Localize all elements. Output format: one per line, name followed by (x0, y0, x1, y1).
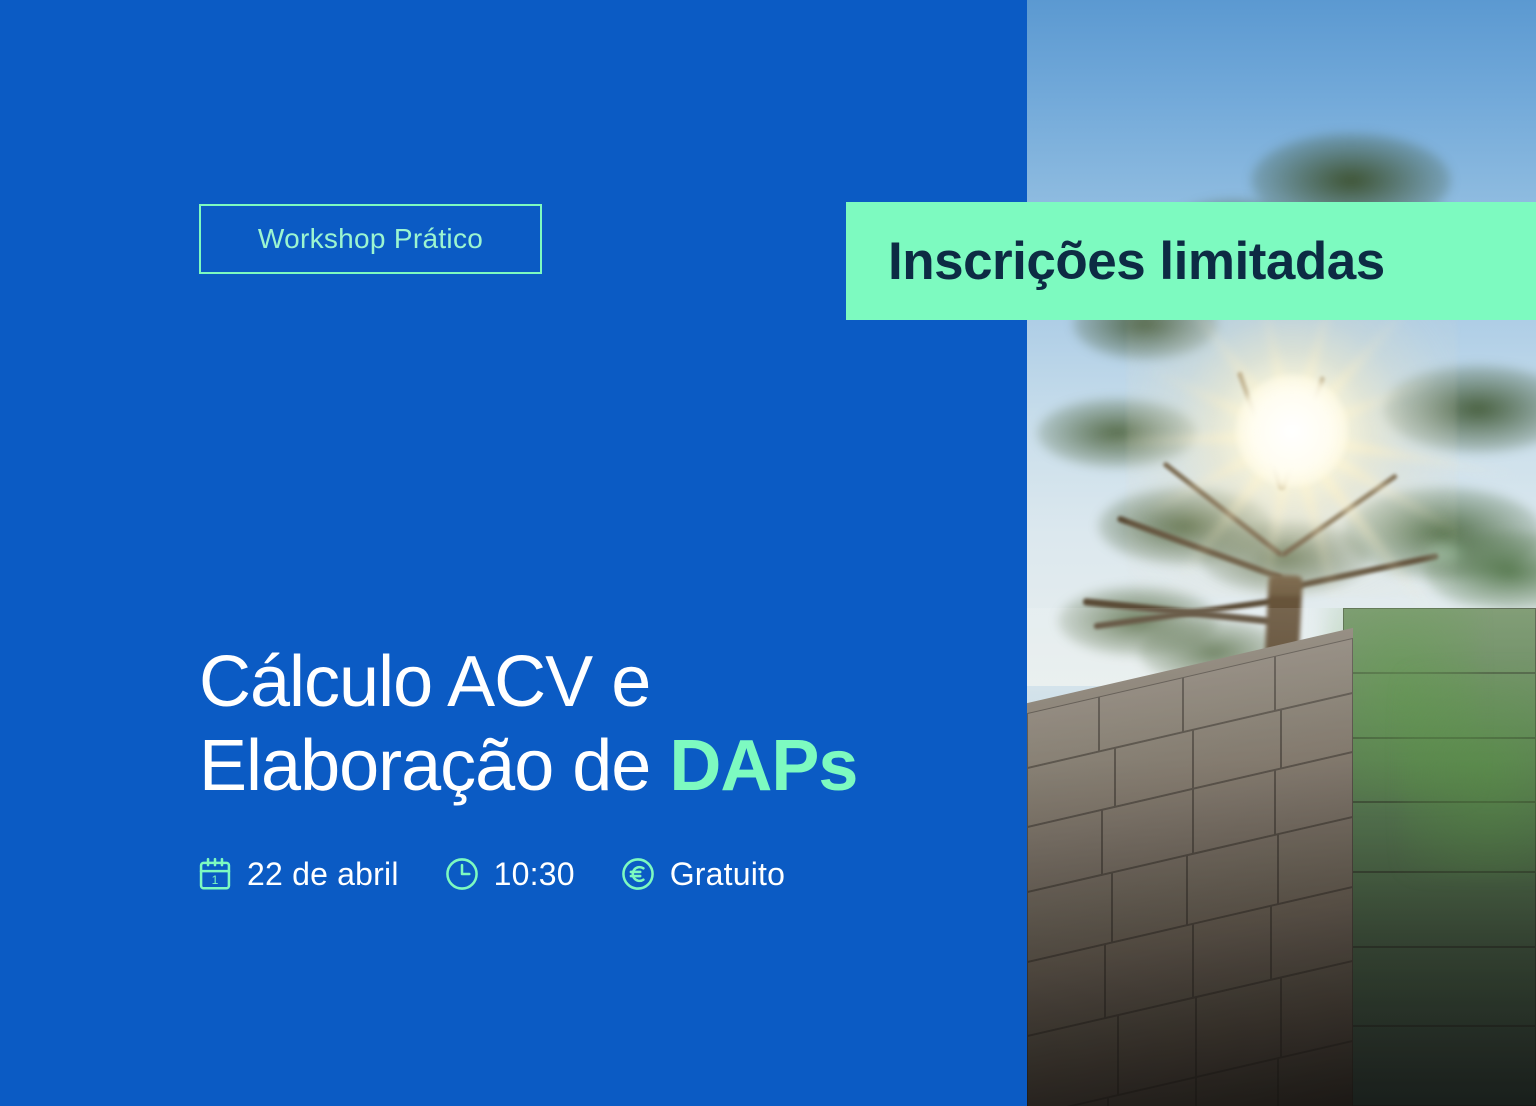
calendar-day-number: 1 (212, 873, 219, 887)
wall-shading (1027, 608, 1536, 1106)
badge-label: Workshop Prático (258, 223, 483, 255)
meta-label-time: 10:30 (494, 856, 575, 893)
euro-circle-icon (619, 855, 657, 893)
meta-label-price: Gratuito (670, 856, 785, 893)
page-title: Cálculo ACV e Elaboração de DAPs (199, 641, 989, 808)
meta-label-date: 22 de abril (247, 856, 399, 893)
limited-seats-banner: Inscrições limitadas (846, 202, 1536, 320)
headline-line-1: Cálculo ACV e (199, 641, 989, 725)
meta-item-price: Gratuito (619, 855, 785, 893)
meta-item-time: 10:30 (443, 855, 575, 893)
lens-flare (1424, 542, 1464, 564)
event-meta-row: 1 22 de abril 10:30 Gratuito (196, 855, 785, 893)
banner-label: Inscrições limitadas (888, 231, 1385, 292)
headline-line-2: Elaboração de DAPs (199, 725, 989, 809)
workshop-badge: Workshop Prático (199, 204, 542, 274)
sun-core (1236, 375, 1348, 487)
calendar-icon: 1 (196, 855, 234, 893)
headline-line-2-prefix: Elaboração de (199, 726, 669, 806)
blue-background-panel (0, 0, 1027, 1106)
clock-icon (443, 855, 481, 893)
headline-accent-daps: DAPs (669, 726, 857, 806)
meta-item-date: 1 22 de abril (196, 855, 399, 893)
event-promo-banner: Inscrições limitadas Workshop Prático Cá… (0, 0, 1536, 1106)
stone-wall (1027, 608, 1536, 1106)
hero-photo (1027, 0, 1536, 1106)
